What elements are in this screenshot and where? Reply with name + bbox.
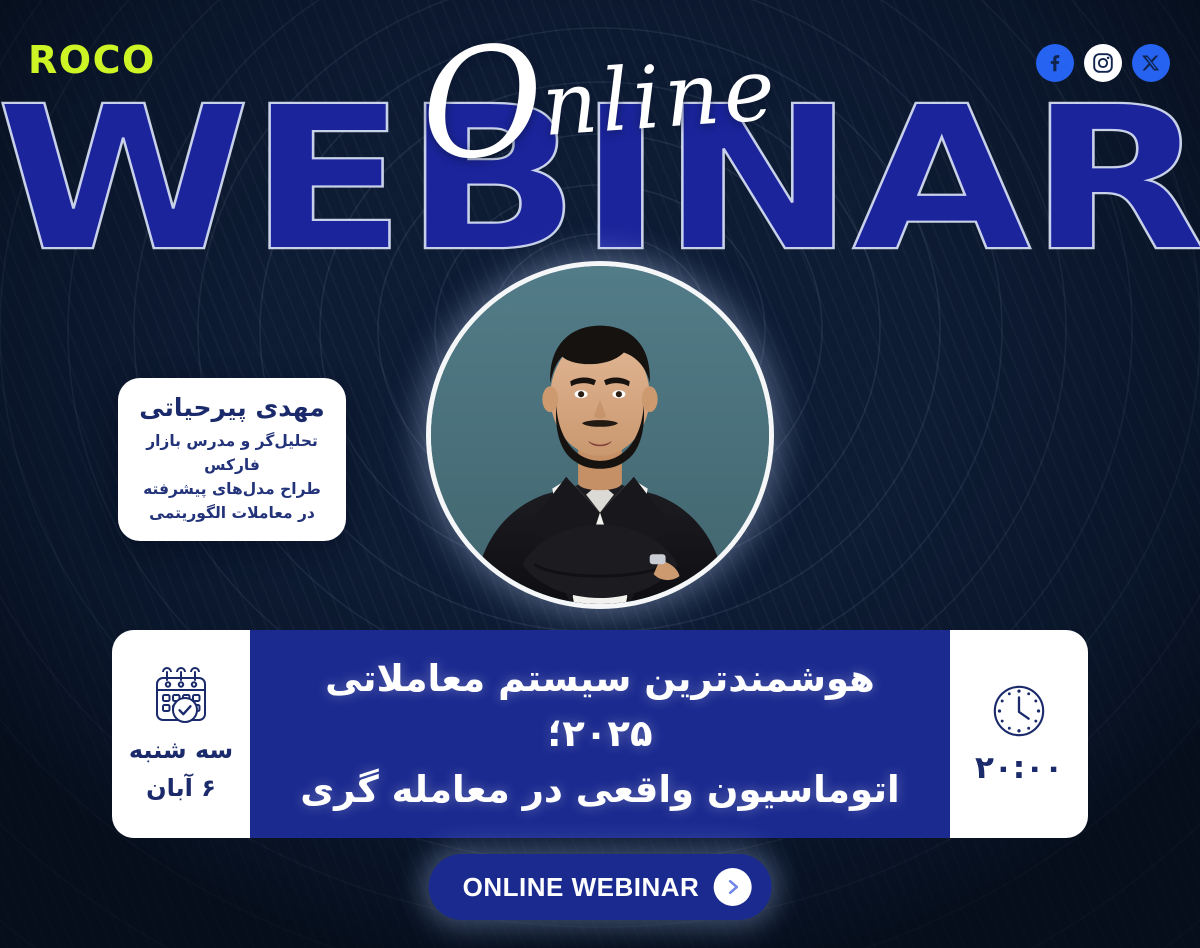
- event-time-value: ۲۰:۰۰: [975, 750, 1063, 786]
- event-date-weekday: سه شنبه: [129, 734, 233, 766]
- speaker-name: مهدی پیرحیاتی: [130, 392, 334, 423]
- avatar: [431, 266, 769, 604]
- online-webinar-button-label: ONLINE WEBINAR: [463, 872, 700, 903]
- chevron-right-icon: [713, 868, 751, 906]
- event-info-bar: ۲۰:۰۰ هوشمندترین سیستم معاملاتی ۲۰۲۵؛ ات…: [112, 630, 1088, 838]
- speaker-portrait: [405, 240, 795, 630]
- online-script-rest: nline: [539, 40, 782, 156]
- webinar-poster: ROCO WEBINAR Online: [0, 0, 1200, 948]
- clock-icon: [990, 682, 1048, 740]
- event-headline-line-1: هوشمندترین سیستم معاملاتی ۲۰۲۵؛: [272, 651, 928, 762]
- event-headline: هوشمندترین سیستم معاملاتی ۲۰۲۵؛ اتوماسیو…: [272, 651, 928, 818]
- event-headline-line-2: اتوماسیون واقعی در معامله گری: [272, 762, 928, 818]
- speaker-role-line-3: در معاملات الگوریتمی: [130, 501, 334, 525]
- event-date-card: سه شنبه ۶ آبان: [112, 630, 250, 838]
- speaker-role-line-2: طراح مدل‌های پیشرفته: [130, 477, 334, 501]
- calendar-check-icon: [149, 664, 213, 728]
- event-headline-panel: هوشمندترین سیستم معاملاتی ۲۰۲۵؛ اتوماسیو…: [250, 630, 950, 838]
- speaker-info-card: مهدی پیرحیاتی تحلیل‌گر و مدرس بازار فارک…: [118, 378, 346, 541]
- speaker-role-line-1: تحلیل‌گر و مدرس بازار فارکس: [130, 429, 334, 477]
- online-webinar-button[interactable]: ONLINE WEBINAR: [429, 854, 772, 920]
- online-script-initial: O: [415, 13, 554, 195]
- event-date-day-month: ۶ آبان: [146, 772, 216, 804]
- event-time-card: ۲۰:۰۰: [950, 630, 1088, 838]
